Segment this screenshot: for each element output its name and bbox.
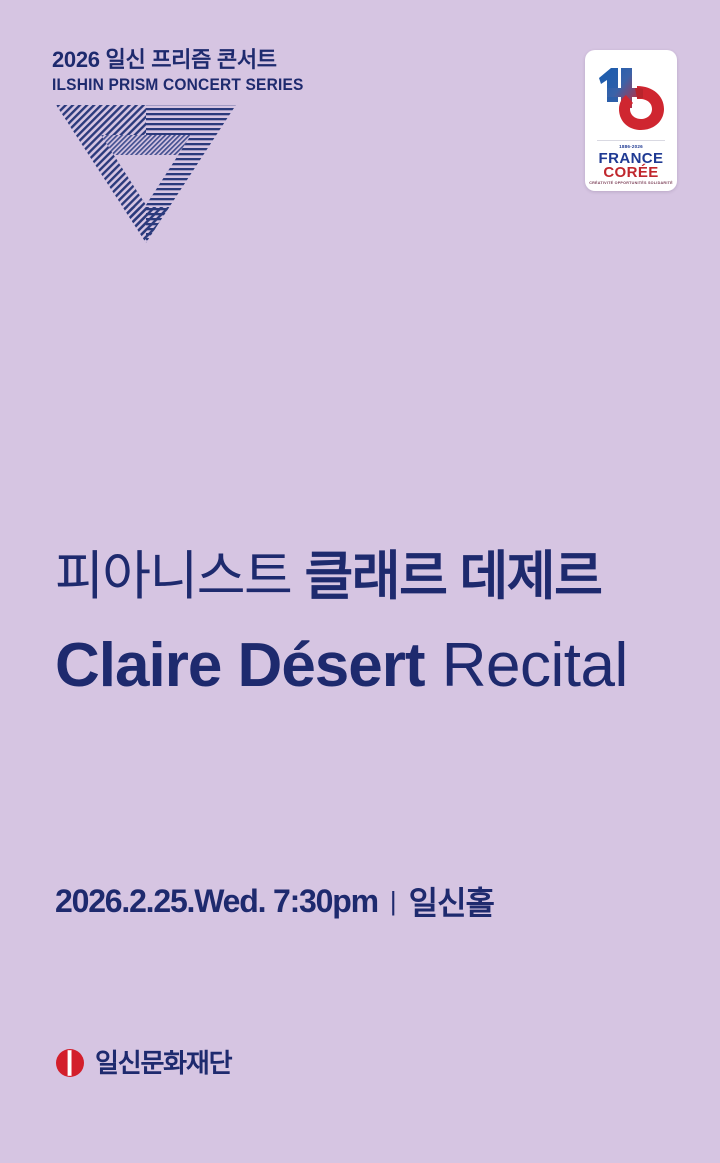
france-coree-badge: 1886-2026 FRANCE CORÉE CRÉATIVITÉ OPPORT… <box>585 50 677 191</box>
badge-divider <box>597 140 665 141</box>
title-korean-role: 피아니스트 <box>55 547 291 606</box>
page-title-english: Claire Désert Recital <box>55 633 715 698</box>
schedule-venue: 일신홀 <box>409 878 494 924</box>
ilshin-circle-mark-icon <box>55 1048 85 1078</box>
prism-triangle-icon <box>52 103 240 245</box>
title-english-name: Claire Désert <box>55 631 425 700</box>
foundation-logo: 일신문화재단 <box>55 1048 231 1078</box>
schedule-datetime: 2026.2.25.Wed. 7:30pm <box>55 883 378 920</box>
title-korean-name: 클래르 데제르 <box>305 547 602 606</box>
series-title-korean: 2026 일신 프리즘 콘서트 <box>52 48 312 72</box>
badge-country-coree: CORÉE <box>585 165 677 180</box>
badge-tagline: CRÉATIVITÉ OPPORTUNITÉS SOLIDARITÉ <box>585 181 677 185</box>
title-english-kind: Recital <box>442 631 628 700</box>
anniversary-numeral-icon <box>585 58 677 134</box>
schedule-line: 2026.2.25.Wed. 7:30pm | 일신홀 <box>55 878 675 924</box>
schedule-separator: | <box>390 886 397 917</box>
page-title-korean: 피아니스트 클래르 데제르 <box>55 548 695 605</box>
series-title-english: ILSHIN PRISM CONCERT SERIES <box>52 76 296 94</box>
concert-poster: 2026 일신 프리즘 콘서트 ILSHIN PRISM CONCERT SER… <box>0 0 720 1163</box>
badge-year-range: 1886-2026 <box>585 144 677 149</box>
foundation-name: 일신문화재단 <box>95 1050 231 1076</box>
series-header: 2026 일신 프리즘 콘서트 ILSHIN PRISM CONCERT SER… <box>52 48 312 94</box>
